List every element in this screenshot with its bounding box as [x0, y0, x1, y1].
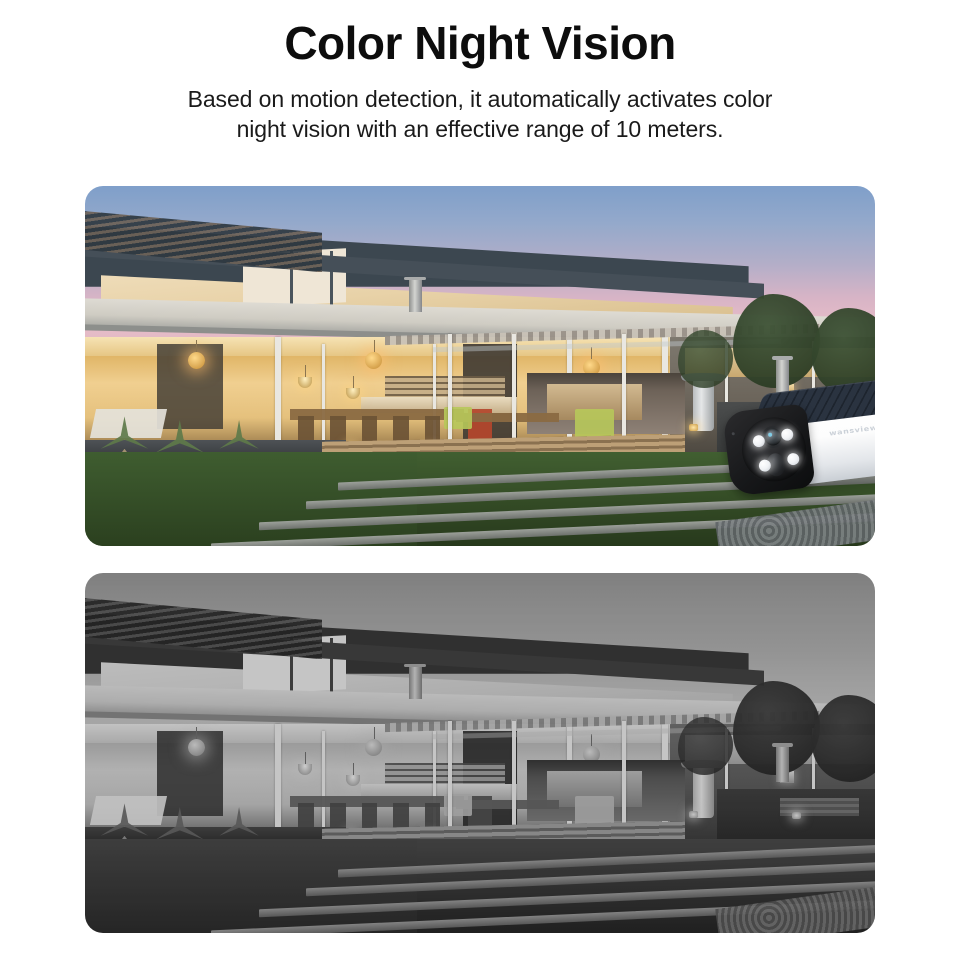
photo-infrared-night-vision: wansview [85, 573, 875, 933]
photo-color-night-vision: wansview [85, 186, 875, 546]
pendant-lamp [188, 739, 205, 756]
chimney-flue [409, 280, 422, 312]
dining-chair [393, 803, 409, 828]
step-light [792, 812, 801, 819]
header: Color Night Vision Based on motion detec… [0, 0, 960, 144]
dining-chair [425, 803, 441, 828]
spotlight-led [781, 428, 794, 441]
dining-chair [425, 416, 441, 441]
page-subtitle: Based on motion detection, it automatica… [0, 84, 960, 145]
pendant-lamp [365, 739, 382, 756]
kitchen-shelving [385, 376, 505, 399]
structural-post [275, 724, 281, 839]
pendant-lamp [346, 388, 360, 399]
outdoor-lounger [90, 796, 167, 825]
product-feature-page: Color Night Vision Based on motion detec… [0, 0, 960, 960]
outdoor-chair [575, 796, 615, 825]
lens-recess [738, 414, 809, 485]
window-mullion [322, 731, 325, 835]
step-light [689, 424, 698, 431]
lens [763, 428, 782, 447]
dining-chair [330, 803, 346, 828]
pergola-post [512, 334, 516, 453]
chimney-flue [409, 667, 422, 699]
pendant-lamp [188, 352, 205, 369]
dining-chair [330, 416, 346, 441]
pendant-lamp [346, 775, 360, 786]
spotlight-led [752, 434, 765, 447]
pendant-lamp [365, 352, 382, 369]
structural-post [275, 337, 281, 452]
dining-chair [298, 803, 314, 828]
spotlight-led [787, 452, 800, 465]
pergola-post [448, 721, 452, 840]
outdoor-lounger [90, 409, 167, 438]
window-mullion [322, 344, 325, 448]
subtitle-line-2: night vision with an effective range of … [0, 114, 960, 144]
dining-chair [362, 416, 378, 441]
dining-chair [298, 416, 314, 441]
scene-grayscale [85, 573, 875, 933]
security-camera-color-mode: wansview [713, 364, 875, 509]
step-light [689, 811, 698, 818]
pergola-post [448, 334, 452, 453]
microphone-icon [732, 432, 735, 435]
camera-face [722, 403, 816, 497]
dining-chair [362, 803, 378, 828]
tree [678, 717, 733, 775]
chimney-flue [776, 746, 789, 782]
kitchen-shelving [385, 763, 505, 786]
outdoor-chair [575, 409, 615, 438]
dining-chair [393, 416, 409, 441]
subtitle-line-1: Based on motion detection, it automatica… [188, 86, 773, 112]
pergola-post [512, 721, 516, 840]
page-title: Color Night Vision [0, 18, 960, 70]
